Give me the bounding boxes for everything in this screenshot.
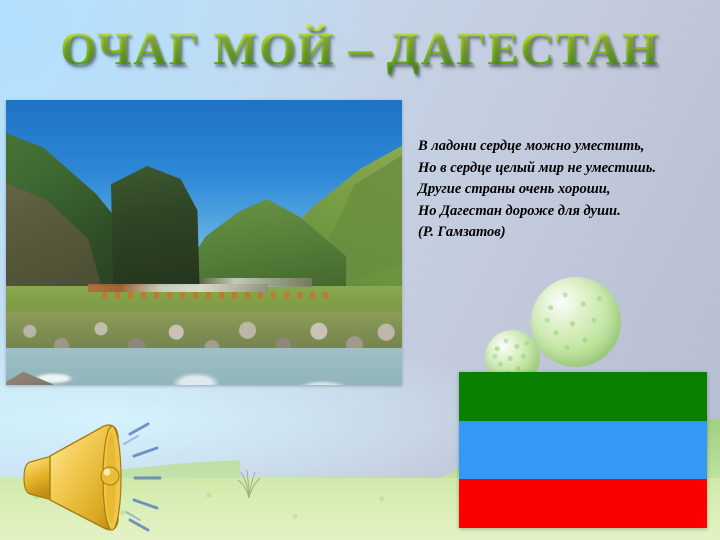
poem-block: В ладони сердце можно уместить, Но в сер…	[418, 136, 714, 244]
speaker-rear-block	[24, 456, 52, 500]
title-container: ОЧАГ МОЙ – ДАГЕСТАН	[0, 18, 720, 80]
photo-village	[88, 284, 268, 292]
landscape-photo	[6, 100, 402, 385]
poem-line-3: Другие страны очень хороши,	[418, 179, 714, 201]
sphere-texture	[531, 277, 621, 367]
photo-river-foam	[6, 352, 402, 385]
photo-cattle-herd	[102, 292, 332, 299]
flag-stripe-blue	[459, 421, 707, 479]
poem-line-4: Но Дагестан дороже для души.	[418, 201, 714, 223]
poem-line-1: В ладони сердце можно уместить,	[418, 136, 714, 158]
slide-canvas: ОЧАГ МОЙ – ДАГЕСТАН ОЧАГ МОЙ – ДАГЕСТАН …	[0, 0, 720, 540]
green-sphere-large	[531, 277, 621, 367]
poem-author: (Р. Гамзатов)	[418, 222, 714, 244]
speaker-sound-waves	[130, 424, 160, 530]
speaker-knob-highlight	[104, 469, 111, 476]
sound-speaker-icon[interactable]	[12, 420, 162, 532]
poem-line-2: Но в сердце целый мир не уместишь.	[418, 158, 714, 180]
page-title: ОЧАГ МОЙ – ДАГЕСТАН	[60, 18, 659, 80]
flag-stripe-green	[459, 372, 707, 421]
speaker-knob	[101, 467, 119, 485]
grass-tuft-icon	[236, 468, 262, 498]
dagestan-flag	[459, 372, 707, 528]
flag-stripe-red	[459, 479, 707, 528]
